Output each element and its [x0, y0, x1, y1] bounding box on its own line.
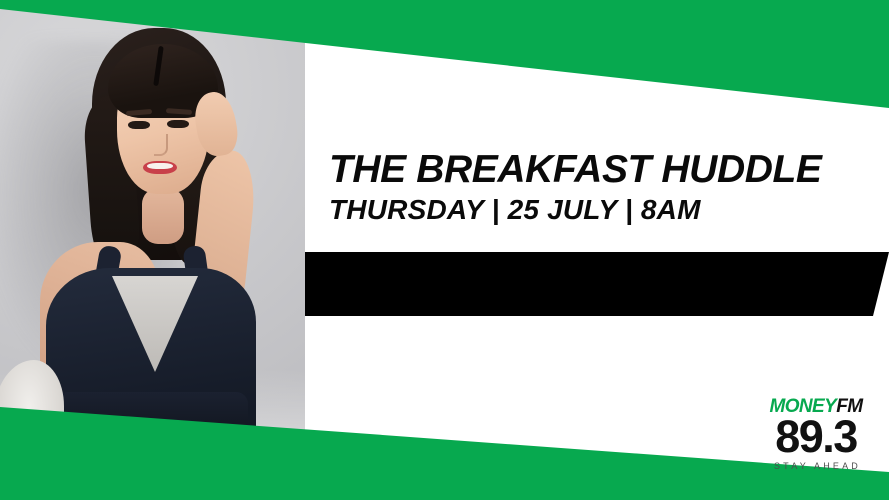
logo-frequency: 89.3 [757, 415, 875, 459]
eye-right [167, 120, 189, 128]
guest-banner [305, 252, 889, 316]
show-title: THE BREAKFAST HUDDLE [329, 148, 881, 192]
station-logo: MONEYFM 89.3 STAY AHEAD [757, 397, 875, 472]
title-block: THE BREAKFAST HUDDLE THURSDAY | 25 JULY … [329, 148, 881, 226]
neck [142, 188, 184, 244]
logo-tagline: STAY AHEAD [757, 460, 875, 472]
teeth [147, 163, 173, 169]
promo-poster: THE BREAKFAST HUDDLE THURSDAY | 25 JULY … [0, 0, 889, 500]
show-schedule: THURSDAY | 25 JULY | 8AM [329, 194, 881, 226]
eye-left [128, 121, 150, 129]
nose [154, 134, 168, 156]
